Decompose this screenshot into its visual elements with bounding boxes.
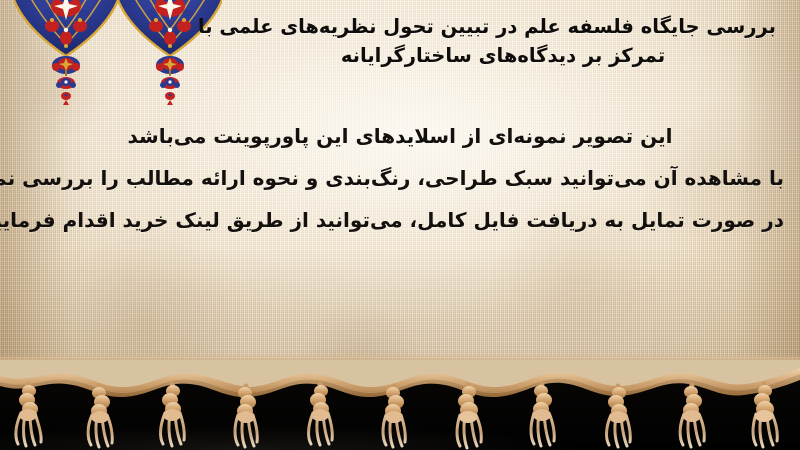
slide-body-line-3: در صورت تمایل به دریافت فایل کامل، می‌تو…	[16, 199, 784, 241]
slide-title: بررسی جایگاه فلسفه علم در تبیین تحول نظر…	[230, 12, 776, 70]
slide-body-line-2: با مشاهده آن می‌توانید سبک طراحی، رنگ‌بن…	[16, 157, 784, 199]
slide-title-line-1: بررسی جایگاه فلسفه علم در تبیین تحول نظر…	[230, 12, 776, 41]
presentation-slide: بررسی جایگاه فلسفه علم در تبیین تحول نظر…	[0, 0, 800, 450]
black-fringe-border	[0, 360, 800, 450]
slide-body: این تصویر نمونه‌ای از اسلایدهای این پاور…	[16, 115, 784, 241]
slide-title-line-2: تمرکز بر دیدگاه‌های ساختارگرایانه	[230, 41, 776, 70]
slide-body-line-1: این تصویر نمونه‌ای از اسلایدهای این پاور…	[16, 115, 784, 157]
rope-fringe-graphic	[0, 360, 800, 450]
